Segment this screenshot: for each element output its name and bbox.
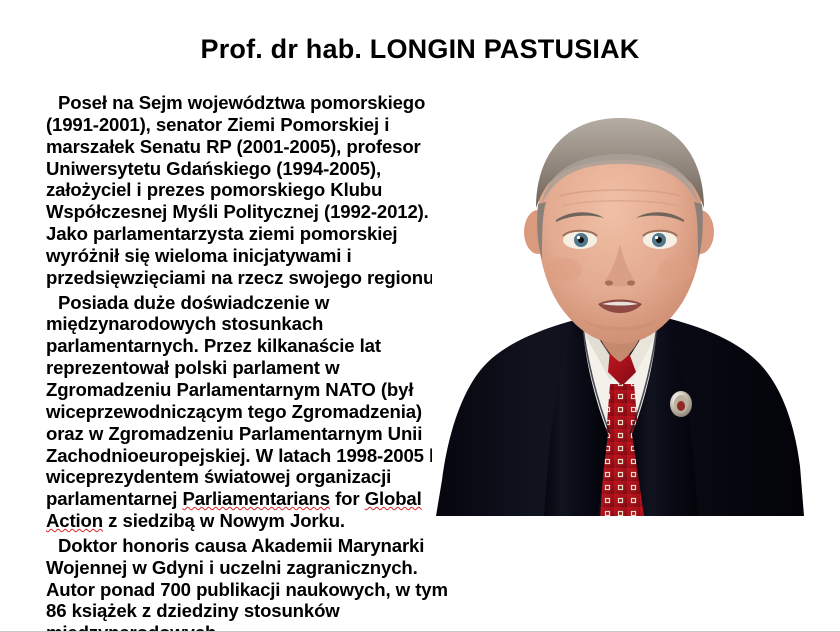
- nostril-right: [627, 280, 635, 285]
- spellcheck-flagged-word-parliamentarians: Parliamentarians: [182, 488, 329, 509]
- biography-paragraph-2: Posiada duże doświadczenie w międzynarod…: [46, 292, 464, 532]
- spellcheck-flagged-word-global: Global: [365, 488, 422, 509]
- biography-paragraph-3: Doktor honoris causa Akademii Marynarki …: [46, 535, 464, 632]
- presentation-slide: Prof. dr hab. LONGIN PASTUSIAK Poseł na …: [0, 0, 840, 632]
- lapel-pin-icon: [670, 391, 692, 417]
- paragraph-2-text-part-4: z siedzibą w Nowym Jorku.: [103, 510, 345, 531]
- nostril-left: [605, 280, 613, 285]
- paragraph-1-text: Poseł na Sejm województwa pomorskiego (1…: [46, 92, 439, 288]
- cheek-right: [658, 258, 694, 282]
- biography-text-block: Poseł na Sejm województwa pomorskiego (1…: [46, 92, 464, 632]
- portrait-photo-image: Portret starszego mężczyzny w granatowym…: [432, 104, 808, 516]
- eye-left: [563, 231, 597, 249]
- portrait-photo: Portret starszego mężczyzny w granatowym…: [432, 104, 808, 516]
- spellcheck-flagged-word-action: Action: [46, 510, 103, 531]
- paragraph-2-text-part-2: for: [330, 488, 365, 509]
- paragraph-3-text: Doktor honoris causa Akademii Marynarki …: [46, 535, 448, 632]
- page-title: Prof. dr hab. LONGIN PASTUSIAK: [0, 34, 840, 65]
- eye-right: [643, 231, 677, 249]
- cheek-left: [546, 258, 582, 282]
- paragraph-2-text-part-1: Posiada duże doświadczenie w międzynarod…: [46, 292, 455, 510]
- biography-paragraph-1: Poseł na Sejm województwa pomorskiego (1…: [46, 92, 464, 289]
